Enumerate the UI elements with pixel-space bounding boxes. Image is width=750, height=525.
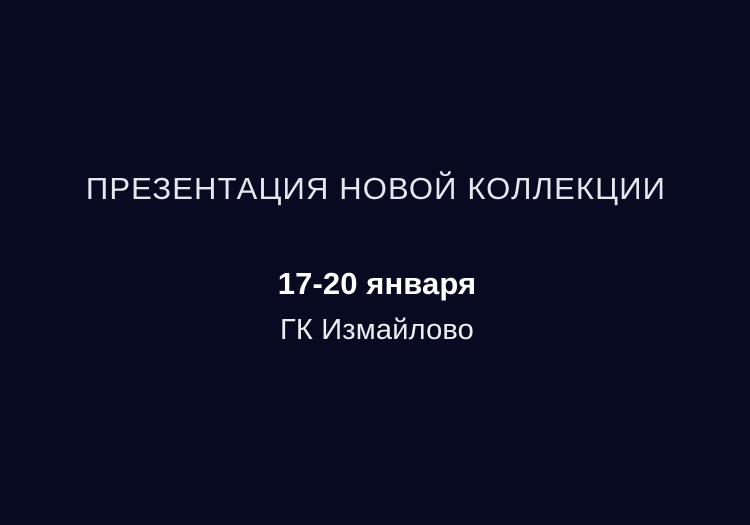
slide-headline: ПРЕЗЕНТАЦИЯ НОВОЙ КОЛЛЕКЦИИ [86,172,666,206]
slide-content-block: ПРЕЗЕНТАЦИЯ НОВОЙ КОЛЛЕКЦИИ 17-20 января… [0,0,750,525]
headline-date-spacer [375,206,376,267]
presentation-slide: ПРЕЗЕНТАЦИЯ НОВОЙ КОЛЛЕКЦИИ 17-20 января… [0,0,750,525]
event-date: 17-20 января [278,267,476,301]
event-venue: ГК Измайлово [280,314,474,347]
